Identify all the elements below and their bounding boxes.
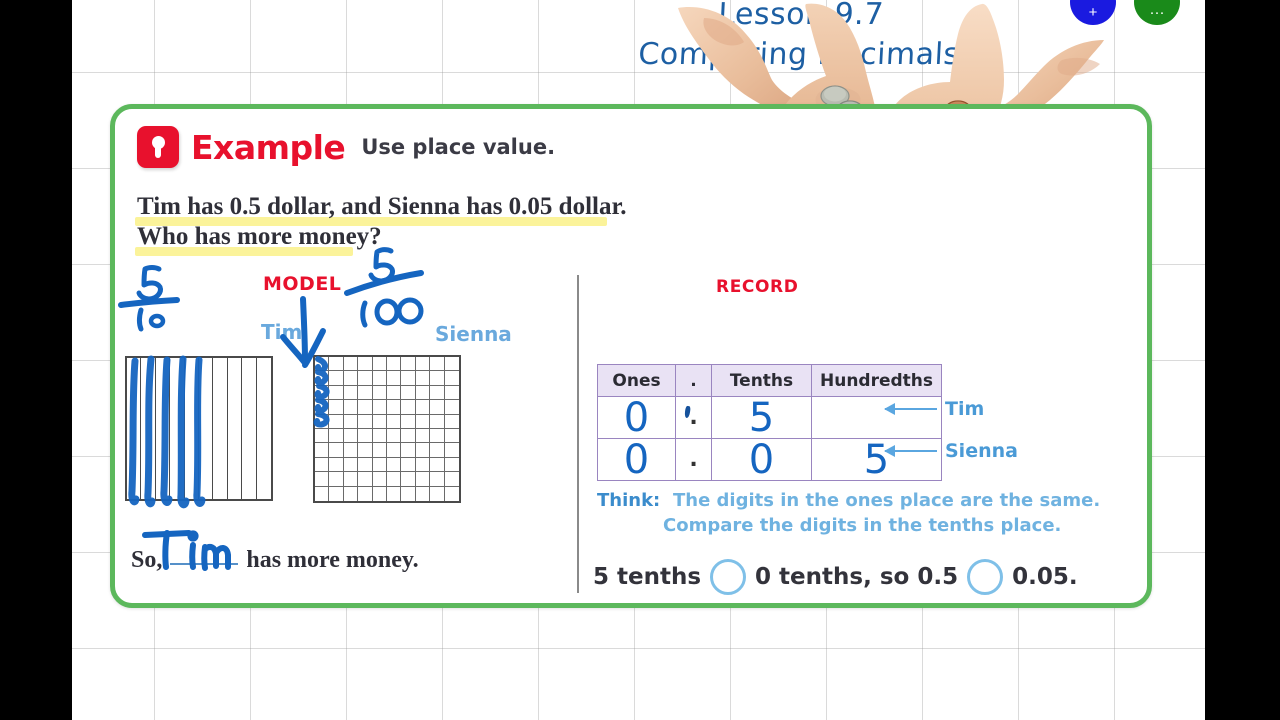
conclusion-sentence: So, has more money.: [131, 547, 419, 574]
example-subheading: Use place value.: [361, 135, 555, 159]
slide-stage: Lesson 9.7 Comparing Decimals: [0, 0, 1280, 720]
place-value-table: Ones . Tenths Hundredths 0 . 5 0: [597, 364, 942, 481]
compare-circle-2[interactable]: [967, 559, 1003, 595]
problem-statement-line2: Who has more money?: [137, 223, 382, 251]
conclusion-suffix: has more money.: [246, 547, 418, 574]
lesson-title-line2: Comparing Decimals: [588, 36, 1010, 74]
header-decimal-point: .: [676, 365, 712, 397]
lesson-panel: Example Use place value. Tim has 0.5 dol…: [110, 104, 1152, 608]
compare-right-text: 0.05.: [1012, 564, 1078, 590]
cell-sienna-dot: .: [676, 439, 712, 481]
conclusion-prefix: So,: [131, 547, 162, 574]
letterbox-left: [0, 0, 72, 720]
cell-sienna-tenths: 0: [712, 439, 812, 481]
table-header-row: Ones . Tenths Hundredths: [598, 365, 942, 397]
side-label-text: Tim: [945, 398, 984, 420]
slide-canvas: Lesson 9.7 Comparing Decimals: [72, 0, 1205, 720]
left-arrow-icon: [885, 450, 937, 452]
cell-tim-ones: 0: [598, 397, 676, 439]
example-header: Example Use place value.: [137, 126, 555, 168]
keyhole-icon: [137, 126, 179, 168]
left-arrow-icon: [885, 408, 937, 410]
row-label-tim: Tim: [885, 398, 984, 420]
row-label-sienna: Sienna: [885, 440, 1018, 462]
side-label-text: Sienna: [945, 440, 1018, 462]
answer-blank[interactable]: [170, 563, 238, 565]
model-label: MODEL: [263, 273, 341, 295]
cell-tim-tenths: 5: [712, 397, 812, 439]
think-keyword: Think:: [597, 490, 660, 511]
header-tenths: Tenths: [712, 365, 812, 397]
tenths-model-grid: [125, 356, 273, 501]
lesson-title-line1: Lesson 9.7: [590, 0, 1012, 34]
lesson-title: Lesson 9.7 Comparing Decimals: [588, 0, 1012, 74]
hundredths-model-grid: [313, 355, 461, 503]
cell-sienna-ones: 0: [598, 439, 676, 481]
example-heading: Example: [191, 128, 345, 167]
cell-tim-dot: .: [676, 397, 712, 439]
header-hundredths: Hundredths: [812, 365, 942, 397]
think-block: Think: The digits in the ones place are …: [597, 488, 1100, 538]
model-name-sienna: Sienna: [435, 322, 512, 346]
letterbox-right: [1205, 0, 1280, 720]
section-divider: [577, 275, 579, 593]
problem-statement-line1: Tim has 0.5 dollar, and Sienna has 0.05 …: [137, 193, 627, 221]
compare-circle-1[interactable]: [710, 559, 746, 595]
header-ones: Ones: [598, 365, 676, 397]
think-line1: The digits in the ones place are the sam…: [673, 490, 1100, 511]
think-line2: Compare the digits in the tenths place.: [663, 513, 1100, 538]
record-label: RECORD: [716, 277, 798, 297]
model-name-tim: Tim: [261, 320, 302, 344]
compare-middle-text: 0 tenths, so 0.5: [755, 564, 958, 590]
compare-sentence: 5 tenths 0 tenths, so 0.5 0.05.: [593, 559, 1078, 595]
compare-left-text: 5 tenths: [593, 564, 701, 590]
